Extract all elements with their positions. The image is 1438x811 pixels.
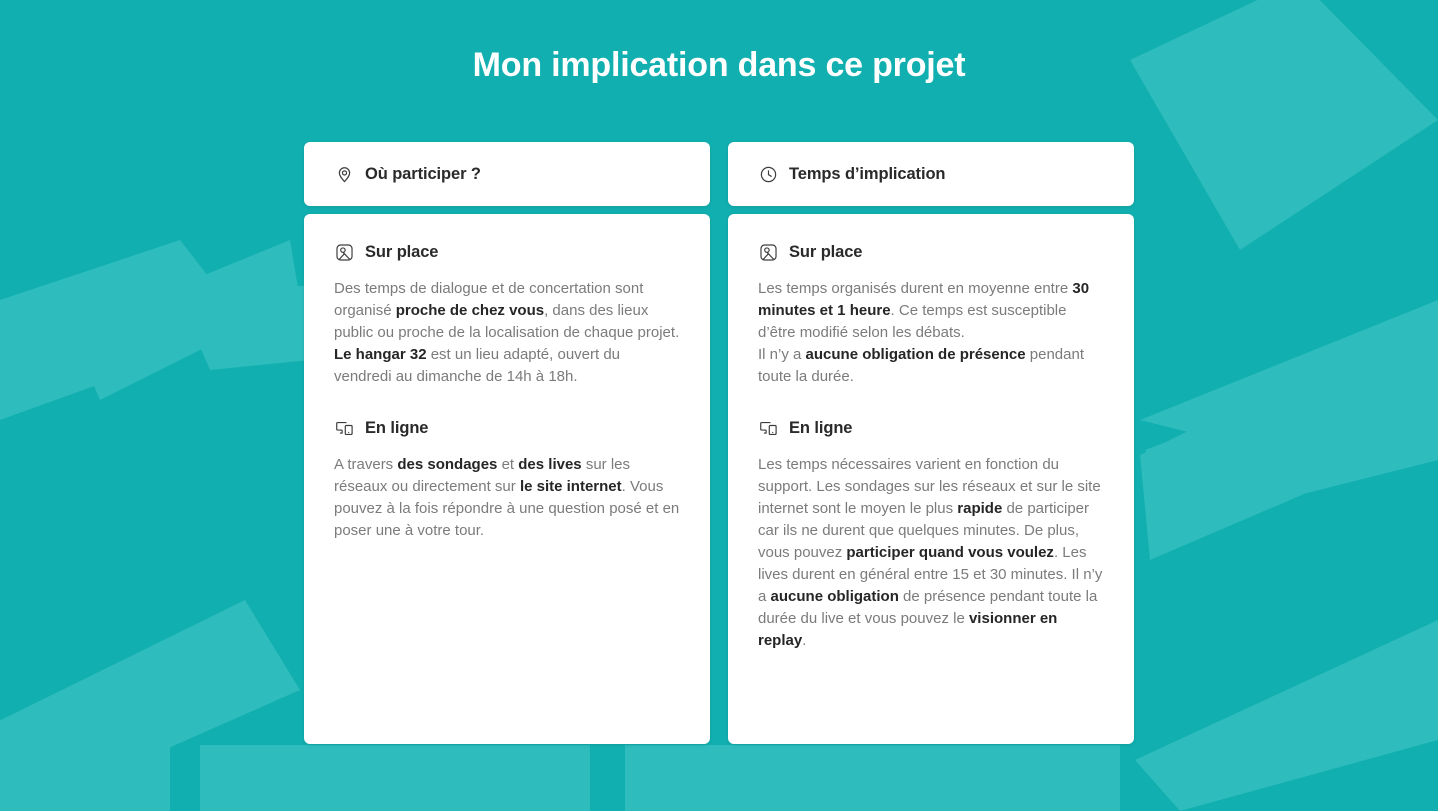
deco-shape-7 bbox=[1145, 340, 1438, 520]
section-en-ligne: En ligne Les temps nécessaires varient e… bbox=[758, 418, 1104, 652]
columns-container: Où participer ? Su bbox=[304, 142, 1134, 744]
section-paragraphs: Des temps de dialogue et de concertation… bbox=[334, 278, 680, 388]
card-header-ou-participer: Où participer ? bbox=[304, 142, 710, 206]
deco-shape-1 bbox=[0, 600, 300, 811]
card-header-title: Où participer ? bbox=[365, 165, 481, 184]
deco-shape-3 bbox=[70, 240, 300, 400]
map-location-icon bbox=[758, 242, 778, 262]
devices-icon bbox=[334, 418, 354, 438]
section-title: En ligne bbox=[789, 419, 852, 438]
deco-shape-9 bbox=[1140, 360, 1360, 560]
page-title: Mon implication dans ce projet bbox=[0, 46, 1438, 85]
column-ou-participer: Où participer ? Su bbox=[304, 142, 710, 744]
section-en-ligne: En ligne A travers des sondages et des l… bbox=[334, 418, 680, 542]
deco-shape-11 bbox=[625, 745, 1120, 811]
card-body-temps-implication: Sur place Les temps organisés durent en … bbox=[728, 214, 1134, 744]
card-header-title: Temps d’implication bbox=[789, 165, 945, 184]
devices-icon bbox=[758, 418, 778, 438]
map-pin-icon bbox=[334, 164, 354, 184]
section-title: Sur place bbox=[789, 243, 862, 262]
section-sur-place: Sur place Des temps de dialogue et de co… bbox=[334, 242, 680, 388]
section-paragraphs: A travers des sondages et des lives sur … bbox=[334, 454, 680, 542]
section-paragraphs: Les temps organisés durent en moyenne en… bbox=[758, 278, 1104, 388]
section-title: Sur place bbox=[365, 243, 438, 262]
deco-shape-6 bbox=[1140, 300, 1438, 470]
deco-shape-10 bbox=[200, 745, 590, 811]
map-location-icon bbox=[334, 242, 354, 262]
card-body-ou-participer: Sur place Des temps de dialogue et de co… bbox=[304, 214, 710, 744]
deco-shape-4 bbox=[180, 285, 310, 370]
column-temps-implication: Temps d’implication bbox=[728, 142, 1134, 744]
clock-icon bbox=[758, 164, 778, 184]
deco-shape-2 bbox=[0, 240, 250, 420]
section-title: En ligne bbox=[365, 419, 428, 438]
deco-shape-12 bbox=[0, 745, 170, 811]
deco-shape-5 bbox=[1130, 0, 1438, 250]
deco-shape-8 bbox=[1135, 620, 1438, 811]
section-paragraphs: Les temps nécessaires varient en fonctio… bbox=[758, 454, 1104, 652]
card-header-temps-implication: Temps d’implication bbox=[728, 142, 1134, 206]
section-sur-place: Sur place Les temps organisés durent en … bbox=[758, 242, 1104, 388]
